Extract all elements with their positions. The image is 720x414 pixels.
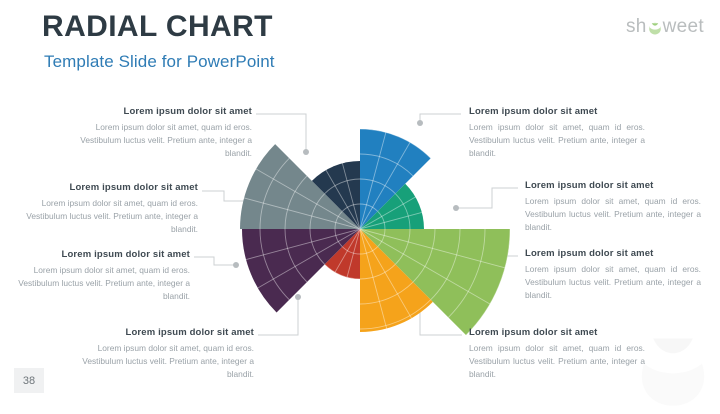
callout-heading: Lorem ipsum dolor sit amet (525, 248, 701, 259)
callout-heading: Lorem ipsum dolor sit amet (76, 106, 252, 117)
slide-canvas: RADIAL CHART Template Slide for PowerPoi… (0, 0, 720, 405)
page-title: RADIAL CHART (42, 11, 273, 43)
page-number-badge: 38 (14, 368, 44, 393)
callout-heading: Lorem ipsum dolor sit amet (22, 182, 198, 193)
callout-top-left[interactable]: Lorem ipsum dolor sit amet Lorem ipsum d… (76, 106, 252, 160)
callout-body: Lorem ipsum dolor sit amet, quam id eros… (469, 342, 645, 381)
callout-bottom-left[interactable]: Lorem ipsum dolor sit amet Lorem ipsum d… (78, 327, 254, 381)
callout-mid-lower-right[interactable]: Lorem ipsum dolor sit amet Lorem ipsum d… (525, 248, 701, 302)
page-subtitle: Template Slide for PowerPoint (44, 52, 275, 72)
callout-body: Lorem ipsum dolor sit amet, quam id eros… (22, 197, 198, 236)
callout-mid-lower-left[interactable]: Lorem ipsum dolor sit amet Lorem ipsum d… (14, 249, 190, 303)
callout-heading: Lorem ipsum dolor sit amet (469, 327, 645, 338)
callout-body: Lorem ipsum dolor sit amet, quam id eros… (525, 195, 701, 234)
callout-top-right[interactable]: Lorem ipsum dolor sit amet Lorem ipsum d… (469, 106, 645, 160)
callout-mid-upper-right[interactable]: Lorem ipsum dolor sit amet Lorem ipsum d… (525, 180, 701, 234)
callout-bottom-right[interactable]: Lorem ipsum dolor sit amet Lorem ipsum d… (469, 327, 645, 381)
callout-heading: Lorem ipsum dolor sit amet (14, 249, 190, 260)
callout-body: Lorem ipsum dolor sit amet, quam id eros… (14, 264, 190, 303)
callout-body: Lorem ipsum dolor sit amet, quam id eros… (525, 263, 701, 302)
leaf-icon (648, 21, 662, 35)
brand-logo: sh weet (626, 14, 704, 38)
callout-heading: Lorem ipsum dolor sit amet (525, 180, 701, 191)
callout-body: Lorem ipsum dolor sit amet, quam id eros… (76, 121, 252, 160)
callout-heading: Lorem ipsum dolor sit amet (469, 106, 645, 117)
brand-name-part2: weet (663, 17, 704, 36)
callout-mid-upper-left[interactable]: Lorem ipsum dolor sit amet Lorem ipsum d… (22, 182, 198, 236)
callout-heading: Lorem ipsum dolor sit amet (78, 327, 254, 338)
brand-name-part1: sh (626, 17, 647, 36)
callout-body: Lorem ipsum dolor sit amet, quam id eros… (469, 121, 645, 160)
callout-body: Lorem ipsum dolor sit amet, quam id eros… (78, 342, 254, 381)
